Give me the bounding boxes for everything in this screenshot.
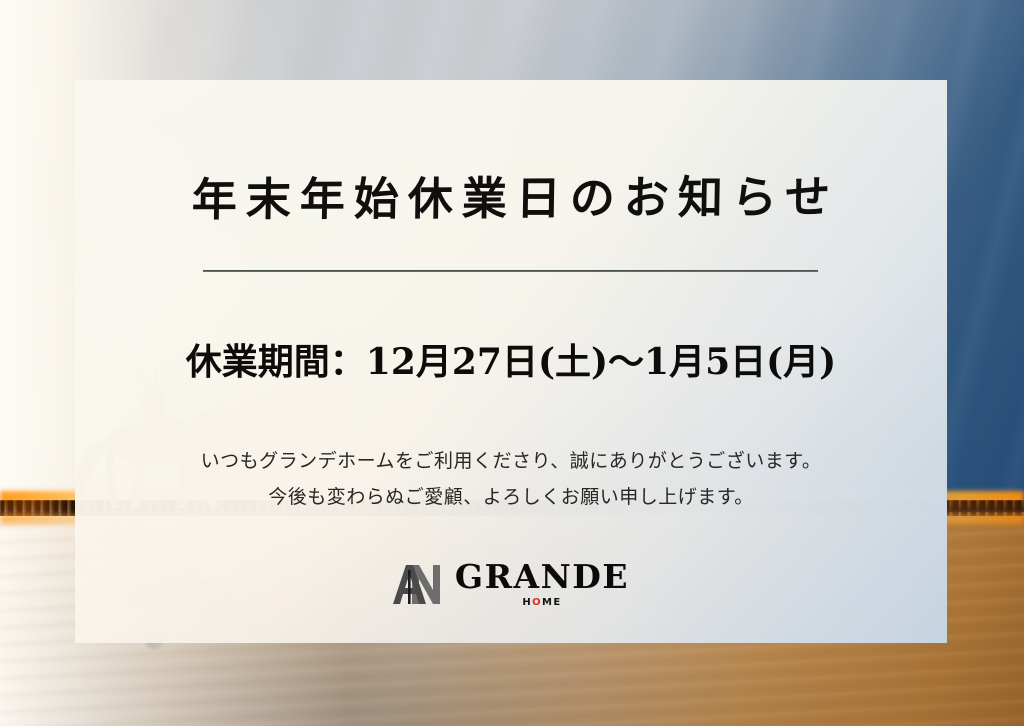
body-message: いつもグランデホームをご利用くださり、誠にありがとうございます。 今後も変わらぬ… bbox=[75, 443, 947, 515]
logo-subtitle: HOME bbox=[522, 598, 561, 608]
body-line-2: 今後も変わらぬご愛顧、よろしくお願い申し上げます。 bbox=[75, 479, 947, 515]
poster-canvas: 年末年始休業日のお知らせ 休業期間：12月27日(土)～1月5日(月) いつもグ… bbox=[0, 0, 1024, 726]
logo-wordmark: GRANDE bbox=[455, 560, 629, 593]
logo-sub-after: ME bbox=[542, 597, 562, 608]
title-divider bbox=[203, 270, 818, 272]
page-title: 年末年始休業日のお知らせ bbox=[74, 160, 947, 229]
notice-card: 年末年始休業日のお知らせ 休業期間：12月27日(土)～1月5日(月) いつもグ… bbox=[75, 80, 947, 643]
an-monogram-icon bbox=[393, 562, 441, 606]
logo-sub-before: H bbox=[522, 597, 532, 608]
logo-text-lockup: GRANDE HOME bbox=[455, 560, 629, 608]
body-line-1: いつもグランデホームをご利用くださり、誠にありがとうございます。 bbox=[75, 443, 947, 479]
brand-logo: GRANDE HOME bbox=[75, 560, 947, 608]
closure-period: 休業期間：12月27日(土)～1月5日(月) bbox=[75, 333, 947, 385]
logo-sub-accent: O bbox=[532, 597, 542, 608]
